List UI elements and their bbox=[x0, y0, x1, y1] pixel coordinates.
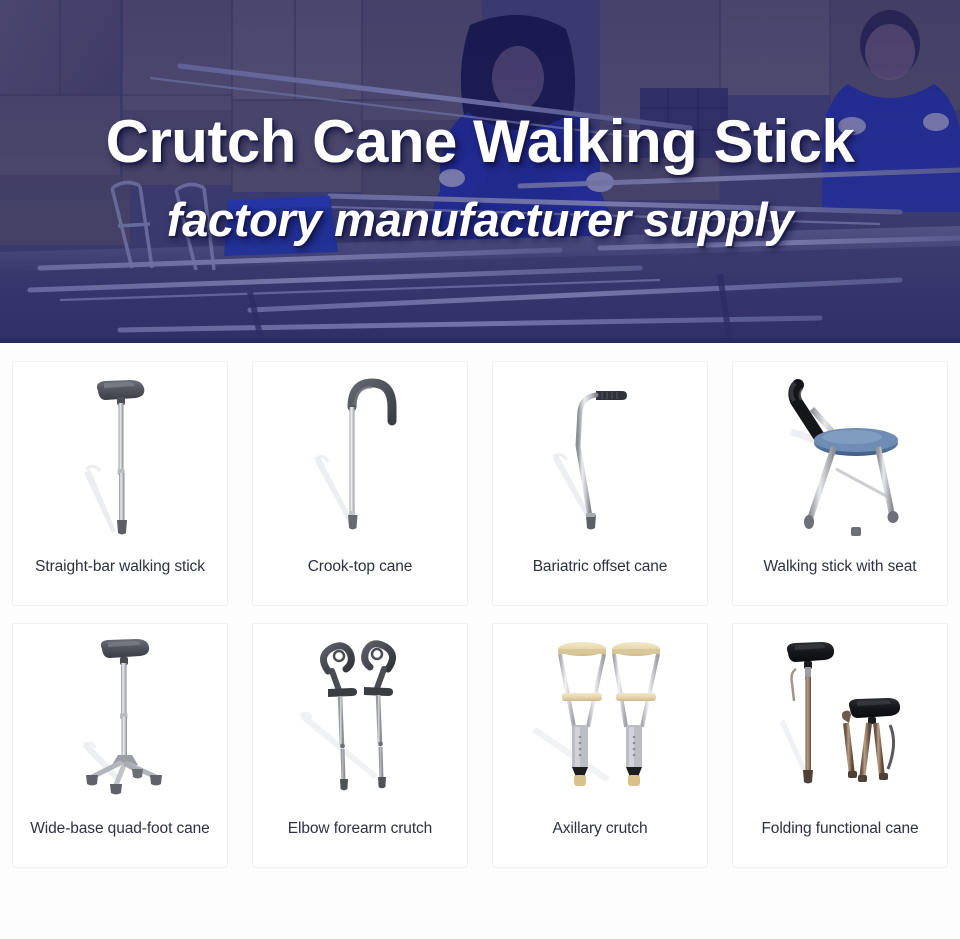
product-label: Walking stick with seat bbox=[733, 558, 947, 577]
product-label: Folding functional cane bbox=[733, 820, 947, 839]
offset-cane-icon bbox=[500, 365, 700, 555]
banner-title: Crutch Cane Walking Stick bbox=[0, 112, 960, 172]
axillary-crutch-icon bbox=[500, 627, 700, 817]
product-row-1: Straight-bar walking stick bbox=[12, 361, 948, 606]
product-image-wrapper bbox=[13, 362, 227, 558]
product-card-elbow-forearm-crutch[interactable]: Elbow forearm crutch bbox=[252, 623, 468, 868]
product-image-wrapper bbox=[733, 624, 947, 820]
crook-top-cane-icon bbox=[260, 365, 460, 555]
product-card-bariatric-offset-cane[interactable]: Bariatric offset cane bbox=[492, 361, 708, 606]
product-label: Crook-top cane bbox=[253, 558, 467, 577]
product-image-wrapper bbox=[253, 624, 467, 820]
product-label: Wide-base quad-foot cane bbox=[13, 820, 227, 839]
product-card-axillary-crutch[interactable]: Axillary crutch bbox=[492, 623, 708, 868]
product-image-wrapper bbox=[733, 362, 947, 558]
straight-bar-cane-icon bbox=[20, 365, 220, 555]
product-label: Axillary crutch bbox=[493, 820, 707, 839]
forearm-crutch-icon bbox=[260, 627, 460, 817]
product-label: Elbow forearm crutch bbox=[253, 820, 467, 839]
product-label: Bariatric offset cane bbox=[493, 558, 707, 577]
product-label: Straight-bar walking stick bbox=[13, 558, 227, 577]
folding-cane-icon bbox=[740, 627, 940, 817]
product-showcase-page: Crutch Cane Walking Stick factory manufa… bbox=[0, 0, 960, 939]
product-card-walking-stick-with-seat[interactable]: Walking stick with seat bbox=[732, 361, 948, 606]
product-card-crook-top-cane[interactable]: Crook-top cane bbox=[252, 361, 468, 606]
seat-cane-icon bbox=[740, 365, 940, 555]
product-card-straight-bar-walking-stick[interactable]: Straight-bar walking stick bbox=[12, 361, 228, 606]
product-image-wrapper bbox=[493, 362, 707, 558]
hero-banner: Crutch Cane Walking Stick factory manufa… bbox=[0, 0, 960, 343]
banner-subtitle: factory manufacturer supply bbox=[0, 196, 960, 243]
product-image-wrapper bbox=[253, 362, 467, 558]
product-grid: Straight-bar walking stick bbox=[0, 343, 960, 939]
product-card-wide-base-quad-foot-cane[interactable]: Wide-base quad-foot cane bbox=[12, 623, 228, 868]
product-card-folding-functional-cane[interactable]: Folding functional cane bbox=[732, 623, 948, 868]
quad-cane-icon bbox=[20, 627, 220, 817]
product-image-wrapper bbox=[493, 624, 707, 820]
product-image-wrapper bbox=[13, 624, 227, 820]
banner-text-block: Crutch Cane Walking Stick factory manufa… bbox=[0, 0, 960, 343]
product-row-2: Wide-base quad-foot cane bbox=[12, 623, 948, 868]
